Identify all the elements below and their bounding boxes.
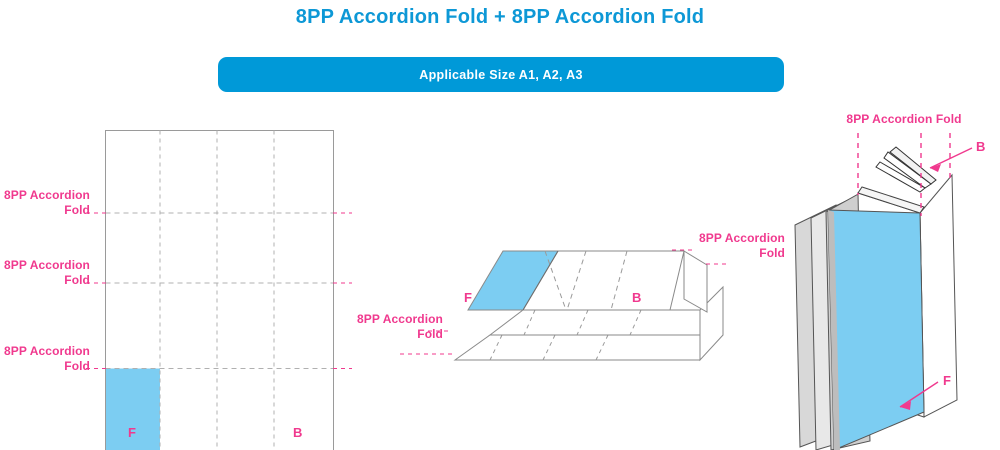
perspective-front-panel-tag: F: [464, 291, 472, 304]
flat-front-panel-tag: F: [128, 426, 136, 439]
flat-horizontal-fold-lines: [106, 213, 334, 369]
standing-b-arrow: [930, 148, 972, 172]
perspective-fold-label-2: 8PP Accordion Fold: [348, 312, 443, 342]
flat-vertical-fold-lines: [160, 131, 274, 450]
standing-accordion-diagram: [795, 133, 972, 450]
diagram-artwork: [0, 0, 1000, 450]
standing-back-panel-tag: B: [976, 140, 985, 153]
perspective-back-panel-tag: B: [632, 291, 641, 304]
flat-layout-diagram: [86, 131, 352, 450]
standing-fold-label: 8PP Accordion Fold: [818, 112, 990, 127]
standing-front-panel: [828, 210, 924, 450]
perspective-sheet-middle: [490, 310, 700, 335]
folded-perspective-diagram: [400, 250, 726, 360]
perspective-sheet-bottom: [455, 335, 700, 360]
standing-back-right-panel: [920, 175, 957, 417]
flat-fold-label-2: 8PP Accordion Fold: [0, 258, 90, 288]
flat-fold-label-3: 8PP Accordion Fold: [0, 344, 90, 374]
flat-back-panel-tag: B: [293, 426, 302, 439]
flat-fold-label-1: 8PP Accordion Fold: [0, 188, 90, 218]
standing-front-panel-tag: F: [943, 374, 951, 387]
flat-fold-leader-lines: [86, 213, 352, 369]
perspective-fold-label-1: 8PP Accordion Fold: [690, 231, 785, 261]
fold-spec-page: 8PP Accordion Fold + 8PP Accordion Fold …: [0, 0, 1000, 450]
